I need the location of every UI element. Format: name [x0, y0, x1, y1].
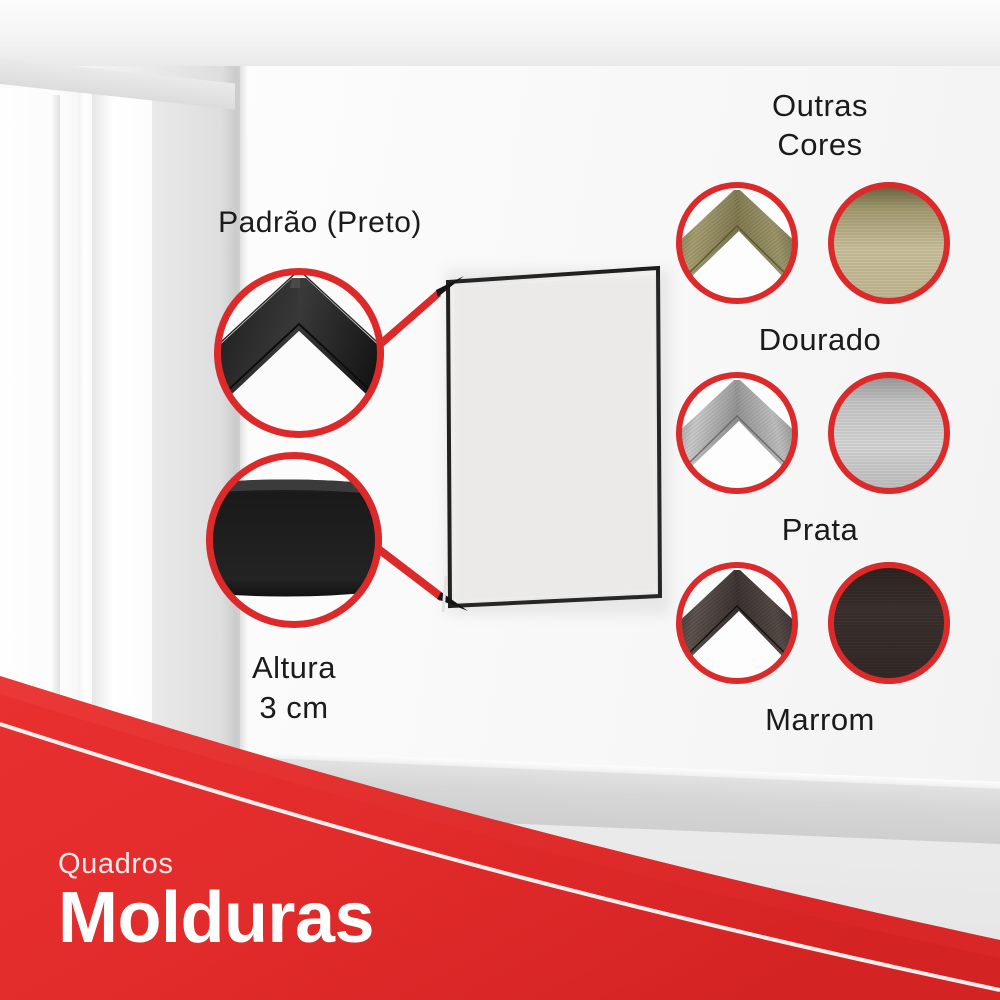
label-padrao-preto: Padrão (Preto) [150, 206, 490, 240]
brand-lockup: Quadros Molduras [58, 850, 374, 954]
swatch-circle-black-height [206, 452, 382, 628]
product-infographic: Padrão (Preto) [0, 0, 1000, 1000]
framed-picture [440, 262, 666, 612]
swatch-circle-gold-texture [828, 182, 950, 304]
swatch-circle-gold-corner [676, 182, 798, 304]
ceiling [0, 0, 1000, 66]
brand-big-text: Molduras [58, 883, 374, 954]
label-dourado: Dourado [700, 322, 940, 358]
silver-frame-texture-icon [828, 372, 950, 494]
frame-drop-shadow [446, 270, 670, 614]
black-frame-height-icon [206, 452, 382, 628]
heading-outras-cores-line1: Outras [700, 88, 940, 124]
brand-small-text: Quadros [58, 850, 374, 879]
label-prata: Prata [700, 512, 940, 548]
gold-frame-texture-icon [828, 182, 950, 304]
bottom-brand-banner: Quadros Molduras [0, 640, 1000, 1000]
swatch-circle-silver-corner [676, 372, 798, 494]
swatch-circle-black-corner [214, 268, 384, 438]
black-frame-corner-icon [214, 268, 384, 438]
swatch-circle-silver-texture [828, 372, 950, 494]
heading-outras-cores-line2: Cores [700, 127, 940, 163]
gold-frame-corner-icon [676, 182, 798, 304]
silver-frame-corner-icon [676, 372, 798, 494]
